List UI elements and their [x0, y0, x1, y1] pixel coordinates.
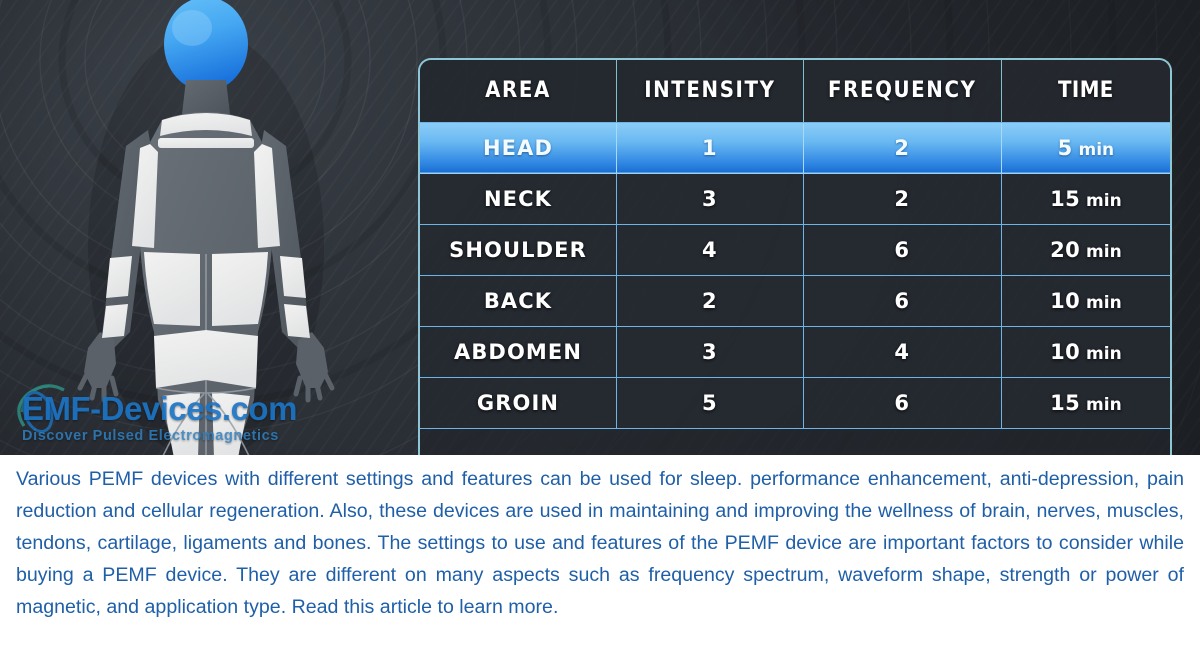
time-unit: min: [1080, 242, 1122, 262]
cell-frequency-4: 6: [803, 275, 1001, 326]
description-section: Various PEMF devices with different sett…: [0, 455, 1200, 650]
cell-intensity-1: 1: [617, 122, 804, 173]
hand-left-icon: [80, 332, 116, 400]
hand-right-icon: [296, 332, 332, 400]
table-row[interactable]: BACK2610 min: [420, 275, 1170, 326]
cell-time-3: 20 min: [1001, 224, 1170, 275]
table-row[interactable]: HEAD125 min: [420, 122, 1170, 173]
table-row[interactable]: GROIN5615 min: [420, 377, 1170, 428]
pad-upper-back-region: [158, 138, 254, 148]
cell-intensity-3: 4: [617, 224, 804, 275]
column-header-intensity: INTENSITY: [617, 60, 804, 122]
column-header-area: AREA: [420, 60, 617, 122]
table-row[interactable]: NECK3215 min: [420, 173, 1170, 224]
cell-intensity-4: 2: [617, 275, 804, 326]
pad-hip-region: [154, 330, 258, 388]
cell-frequency-1: 2: [803, 122, 1001, 173]
pemf-settings-infographic: EMF-Devices.com Discover Pulsed Electrom…: [0, 0, 1200, 650]
time-unit: min: [1080, 293, 1122, 313]
time-unit: min: [1080, 395, 1122, 415]
cell-intensity-2: 3: [617, 173, 804, 224]
column-header-frequency: FREQUENCY: [803, 60, 1001, 122]
pemf-head-cap-icon: [164, 0, 248, 91]
cell-time-4: 10 min: [1001, 275, 1170, 326]
cell-frequency-5: 4: [803, 326, 1001, 377]
cell-area-6: GROIN: [420, 377, 617, 428]
table-row[interactable]: SHOULDER4620 min: [420, 224, 1170, 275]
cell-intensity-5: 3: [617, 326, 804, 377]
cell-intensity-6: 5: [617, 377, 804, 428]
cell-area-3: SHOULDER: [420, 224, 617, 275]
time-unit: min: [1073, 140, 1115, 160]
table-header-row: AREA INTENSITY FREQUENCY TIME: [420, 60, 1170, 122]
cell-frequency-3: 6: [803, 224, 1001, 275]
table-row[interactable]: ABDOMEN3410 min: [420, 326, 1170, 377]
cell-area-4: BACK: [420, 275, 617, 326]
cell-frequency-2: 2: [803, 173, 1001, 224]
cell-time-2: 15 min: [1001, 173, 1170, 224]
pemf-settings-table: AREA INTENSITY FREQUENCY TIME HEAD125 mi…: [418, 58, 1172, 455]
column-header-time: TIME: [1001, 60, 1170, 122]
graphic-panel: EMF-Devices.com Discover Pulsed Electrom…: [0, 0, 1200, 455]
cell-time-1: 5 min: [1001, 122, 1170, 173]
cell-time-6: 15 min: [1001, 377, 1170, 428]
human-body-rear-view: [58, 0, 348, 455]
cell-frequency-6: 6: [803, 377, 1001, 428]
cell-time-5: 10 min: [1001, 326, 1170, 377]
time-unit: min: [1080, 191, 1122, 211]
time-unit: min: [1080, 344, 1122, 364]
cell-area-2: NECK: [420, 173, 617, 224]
cell-area-5: ABDOMEN: [420, 326, 617, 377]
cell-area-1: HEAD: [420, 122, 617, 173]
description-paragraph: Various PEMF devices with different sett…: [16, 463, 1184, 623]
